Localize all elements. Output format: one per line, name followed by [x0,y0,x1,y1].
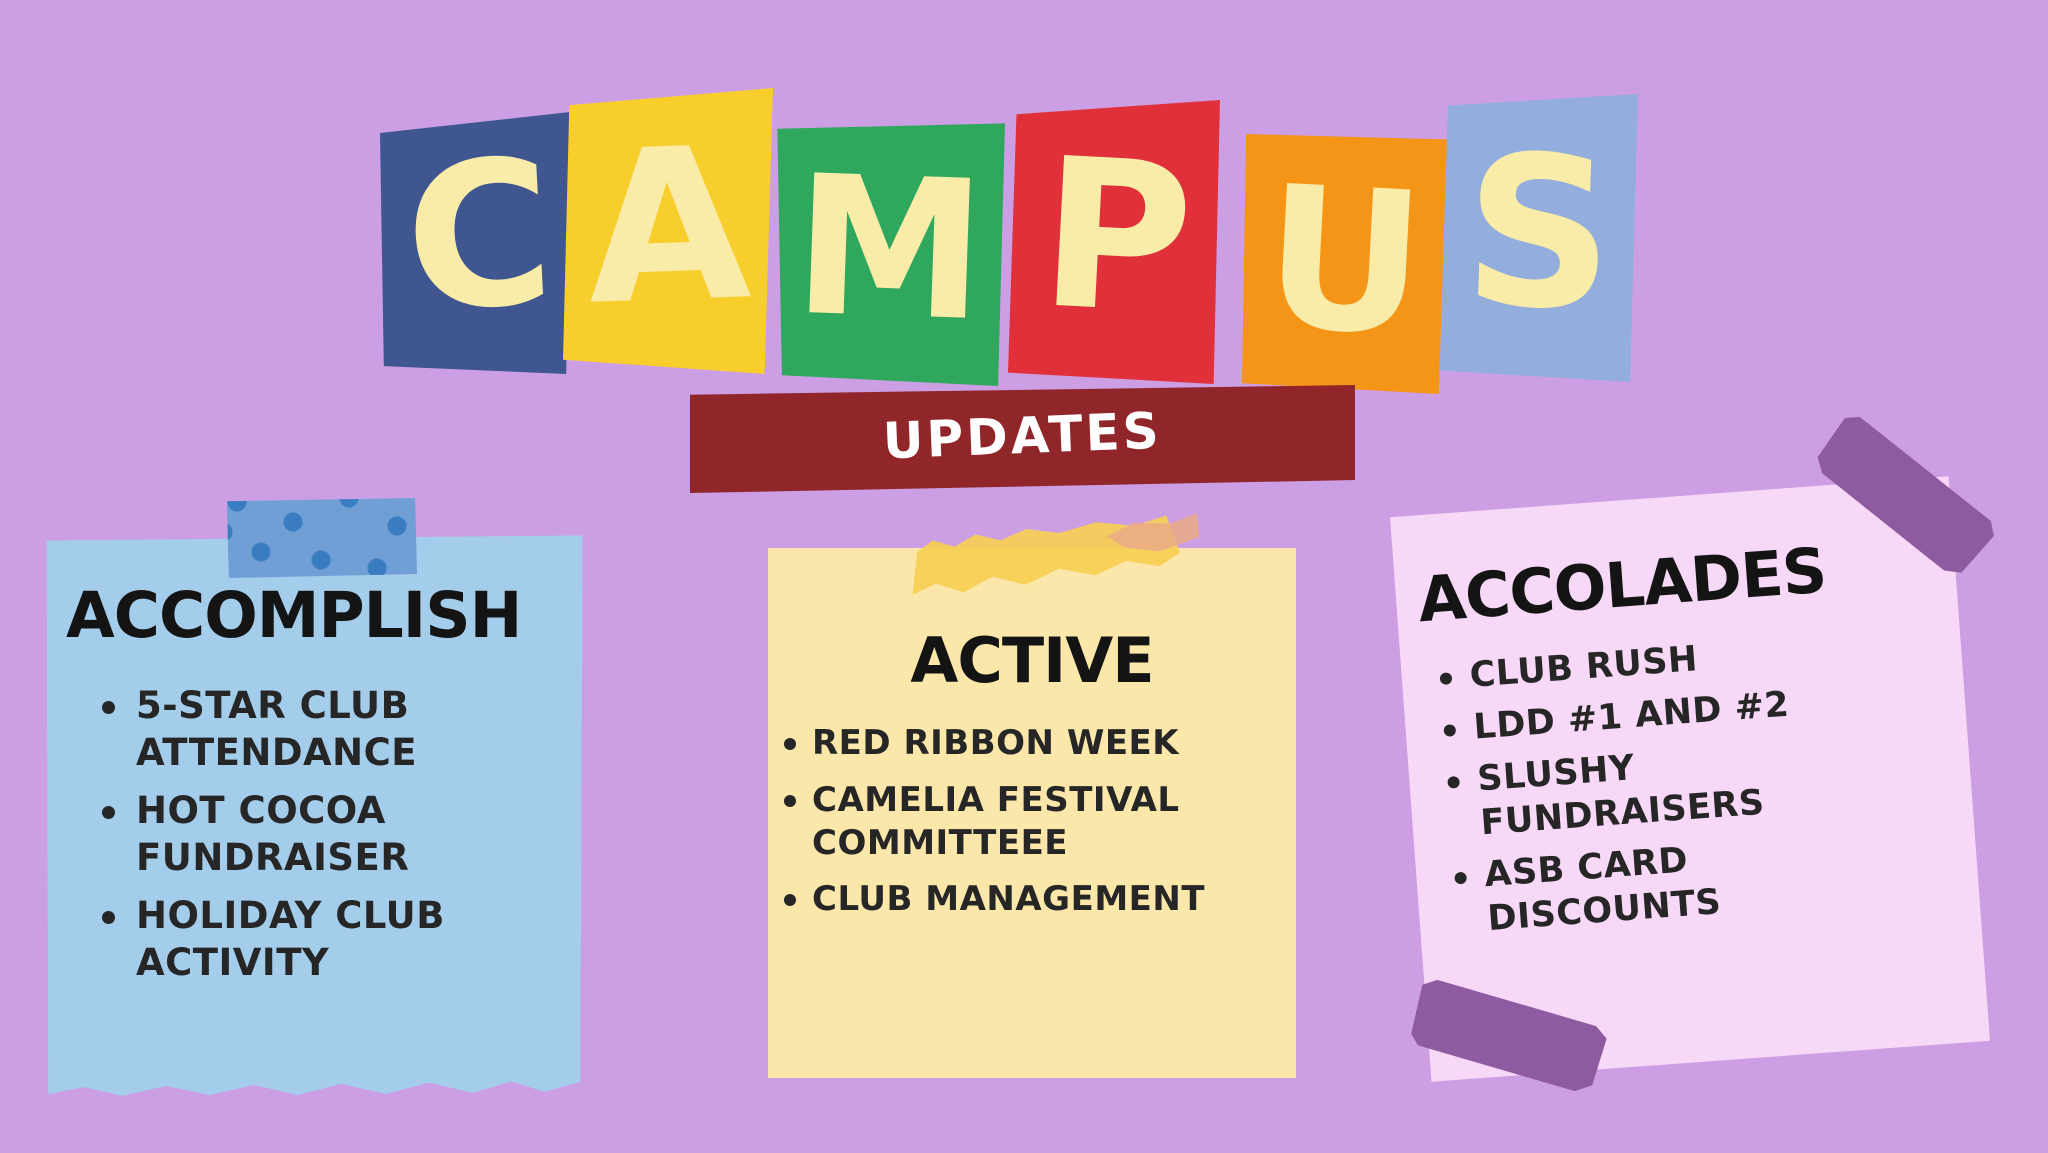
list-item: RED RIBBON WEEK [812,722,1242,765]
title-tile-a: A [563,88,773,374]
title-tile-s: S [1440,94,1638,382]
tape-dots [225,498,417,578]
title-tile-m: M [775,118,1005,386]
card-active-list: RED RIBBON WEEK CAMELIA FESTIVAL COMMITT… [812,722,1296,921]
poster-canvas: C A M P U S UPDATES ACCOMPLISH 5-STAR CL… [0,0,2048,1153]
updates-banner-label: UPDATES [882,402,1163,471]
card-active: ACTIVE RED RIBBON WEEK CAMELIA FESTIVAL … [768,548,1296,1078]
card-active-title: ACTIVE [768,630,1296,692]
list-item: CLUB MANAGEMENT [812,878,1242,921]
list-item: 5-STAR CLUB ATTENDANCE [136,683,486,776]
list-item: CAMELIA FESTIVAL COMMITTEEE [812,779,1242,865]
campus-title: C A M P U S [0,0,2048,420]
card-accolades: ACCOLADES CLUB RUSH LDD #1 AND #2 SLUSHY… [1390,476,1990,1081]
title-letter-s: S [1461,142,1617,326]
polka-dot-tape-icon [225,498,417,578]
title-letter-a: A [584,134,753,320]
title-letter-u: U [1261,174,1429,351]
title-letter-p: P [1036,146,1196,331]
list-item: HOT COCOA FUNDRAISER [136,788,486,881]
card-accolades-title: ACCOLADES [1416,530,1957,631]
title-tile-p: P [1008,100,1220,384]
title-letter-c: C [401,147,557,326]
card-accomplish: ACCOMPLISH 5-STAR CLUB ATTENDANCE HOT CO… [40,532,588,1102]
title-tile-u: U [1242,126,1447,394]
card-accolades-list: CLUB RUSH LDD #1 AND #2 SLUSHY FUNDRAISE… [1468,618,1980,942]
title-letter-m: M [792,164,989,336]
card-accomplish-list: 5-STAR CLUB ATTENDANCE HOT COCOA FUNDRAI… [136,683,588,987]
updates-banner: UPDATES [690,385,1355,493]
card-accomplish-title: ACCOMPLISH [66,584,588,647]
list-item: HOLIDAY CLUB ACTIVITY [136,893,486,986]
title-tile-c: C [380,112,570,374]
